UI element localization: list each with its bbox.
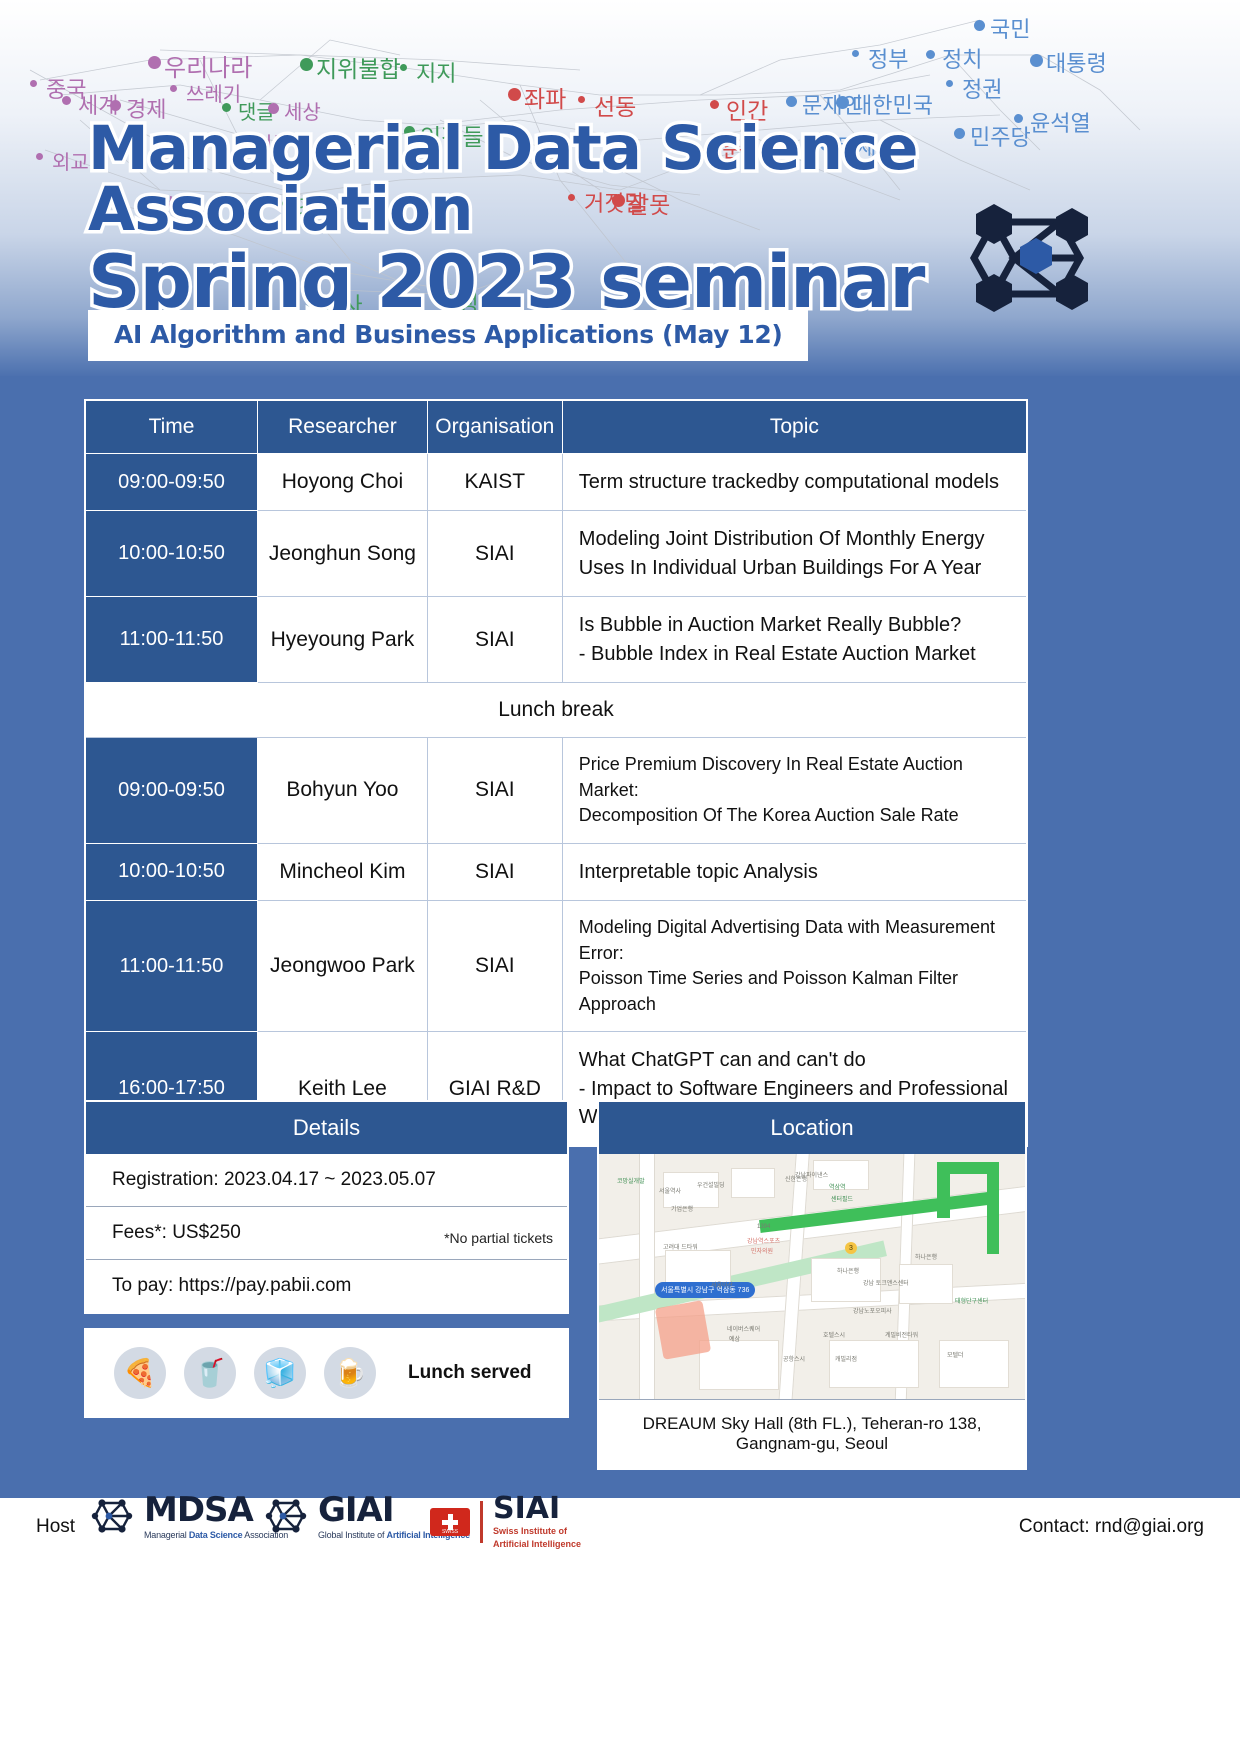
schedule-table: Time Researcher Organisation Topic 09:00…	[84, 399, 1028, 1147]
siai-tagline-line2: Artificial Intelligence	[493, 1539, 581, 1550]
network-word: 국민	[990, 12, 1030, 44]
cell-organisation: SIAI	[427, 597, 562, 683]
topic-line: Interpretable topic Analysis	[579, 858, 1012, 886]
map-label: 계밀비전타워	[885, 1330, 918, 1339]
network-node	[300, 58, 313, 71]
network-node	[30, 80, 37, 87]
cell-topic: Term structure trackedby computational m…	[562, 454, 1027, 511]
topic-line: Is Bubble in Auction Market Really Bubbl…	[579, 611, 1012, 639]
network-node	[1030, 54, 1043, 67]
pizza-slice-icon: 🍕	[114, 1347, 166, 1399]
network-word: 쓰레기	[186, 78, 241, 107]
schedule-lunch-row: Lunch break	[85, 682, 1027, 737]
topic-line: Poisson Time Series and Poisson Kalman F…	[579, 966, 1012, 1017]
hero-subtitle-text: AI Algorithm and Business Applications (…	[114, 320, 782, 349]
map-label: 예삼	[729, 1334, 740, 1343]
cell-researcher: Jeongwoo Park	[258, 900, 428, 1031]
topic-line: Modeling Digital Advertising Data with M…	[579, 915, 1012, 966]
cell-topic: Interpretable topic Analysis	[562, 843, 1027, 900]
network-node	[400, 64, 407, 71]
column-header-time: Time	[85, 400, 258, 454]
detail-text: To pay: https://pay.pabii.com	[112, 1275, 351, 1296]
network-word: 대통령	[1046, 46, 1107, 78]
soda-cup-icon: 🥤	[184, 1347, 236, 1399]
cell-researcher: Hoyong Choi	[258, 454, 428, 511]
logo-mdsa: MDSA Managerial Data Science Association	[88, 1492, 288, 1540]
map-label: 기업은행	[671, 1204, 693, 1213]
details-heading: Details	[86, 1102, 567, 1154]
logo-siai: SWISS SIAI Swiss Institute of Artificial…	[430, 1494, 581, 1551]
map-label: 강남 토크앤스센터	[863, 1278, 909, 1287]
lunch-panel: 🍕 🥤 🧊 🍺 Lunch served	[84, 1328, 569, 1418]
map-label: 하나은행	[915, 1252, 937, 1261]
map-label: 강남역스포츠	[747, 1236, 780, 1245]
siai-wordmark: SIAI	[493, 1494, 581, 1524]
cell-time: 10:00-10:50	[85, 843, 258, 900]
map-label: 우건설빌딩	[697, 1180, 725, 1189]
cell-researcher: Jeonghun Song	[258, 511, 428, 597]
network-node	[578, 96, 585, 103]
network-node	[926, 50, 935, 59]
network-node	[836, 96, 849, 109]
map-label: 신한은행	[785, 1174, 807, 1183]
topic-line: What ChatGPT can and can't do	[579, 1046, 1012, 1074]
schedule-header-row: Time Researcher Organisation Topic	[85, 400, 1027, 454]
map-label: 서울역사	[659, 1186, 681, 1195]
map-label: 네이버스퀘어	[727, 1324, 760, 1333]
giai-tagline-a: Global Institute of	[318, 1530, 387, 1540]
table-row: 09:00-09:50Hoyong ChoiKAISTTerm structur…	[85, 454, 1027, 511]
swiss-flag-caption: SWISS	[442, 1529, 458, 1535]
column-header-organisation: Organisation	[427, 400, 562, 454]
network-node	[222, 103, 231, 112]
siai-divider	[480, 1501, 483, 1543]
cell-time: 11:00-11:50	[85, 597, 258, 683]
mdsa-cube-icon	[88, 1492, 136, 1540]
table-row: 10:00-10:50Jeonghun SongSIAIModeling Joi…	[85, 511, 1027, 597]
column-header-researcher: Researcher	[258, 400, 428, 454]
cell-time: 10:00-10:50	[85, 511, 258, 597]
location-panel: Location 3 서울특별시 강남구 역삼동 736 코망실개발서울역사우건…	[597, 1100, 1027, 1470]
network-word: 좌파	[524, 80, 566, 114]
cold-drink-icon: 🧊	[254, 1347, 306, 1399]
map-label: 강남노포오피사	[853, 1306, 892, 1315]
cell-time: 09:00-09:50	[85, 454, 258, 511]
location-caption: DREAUM Sky Hall (8th FL.), Teheran-ro 13…	[599, 1399, 1025, 1468]
network-node	[710, 100, 719, 109]
table-row: 10:00-10:50Mincheol KimSIAIInterpretable…	[85, 843, 1027, 900]
map-label: 공항스시	[783, 1354, 805, 1363]
table-row: 11:00-11:50Hyeyoung ParkSIAIIs Bubble in…	[85, 597, 1027, 683]
network-node	[62, 96, 71, 105]
topic-line: Term structure trackedby computational m…	[579, 468, 1012, 496]
column-header-topic: Topic	[562, 400, 1027, 454]
location-heading: Location	[599, 1102, 1025, 1154]
lunch-break-label: Lunch break	[85, 682, 1027, 737]
map-label: 역삼역	[829, 1182, 846, 1191]
mdsa-tagline-b: Data Science	[189, 1530, 243, 1540]
hero-subtitle: AI Algorithm and Business Applications (…	[88, 310, 808, 361]
network-node	[974, 20, 985, 31]
cell-organisation: KAIST	[427, 454, 562, 511]
map-label: 센터필드	[831, 1194, 853, 1203]
topic-line: Decomposition Of The Korea Auction Sale …	[579, 803, 1012, 829]
network-node	[946, 80, 953, 87]
topic-line: Price Premium Discovery In Real Estate A…	[579, 752, 1012, 803]
details-panel: Details Registration: 2023.04.17 ~ 2023.…	[84, 1100, 569, 1314]
map-label: 코망실개발	[617, 1176, 645, 1185]
network-node	[508, 88, 521, 101]
lunch-served-label: Lunch served	[408, 1362, 532, 1384]
map-label: 모텔더	[947, 1350, 964, 1359]
map-address-pin: 서울특별시 강남구 역삼동 736	[655, 1282, 755, 1298]
cell-researcher: Hyeyoung Park	[258, 597, 428, 683]
beer-mug-icon: 🍺	[324, 1347, 376, 1399]
network-node	[786, 96, 797, 107]
map-label: 하나은행	[837, 1266, 859, 1275]
network-word: 지위불합	[316, 50, 401, 84]
network-word: 정권	[962, 72, 1002, 104]
map-label: 서울아산	[711, 1280, 733, 1289]
host-label: Host	[36, 1516, 75, 1538]
cell-organisation: SIAI	[427, 843, 562, 900]
map-label: 1394	[757, 1224, 770, 1230]
topic-line: Uses In Individual Urban Buildings For A…	[579, 554, 1012, 582]
cell-organisation: SIAI	[427, 900, 562, 1031]
hero-banner: 중국세계경제우리나라쓰레기댓글세상지위불합지지미국인간들좌파선동인간문재인대한민…	[0, 0, 1240, 378]
cell-organisation: SIAI	[427, 737, 562, 843]
map-route-badge: 3	[845, 1242, 857, 1254]
detail-row: To pay: https://pay.pabii.com	[86, 1260, 567, 1312]
detail-row: Registration: 2023.04.17 ~ 2023.05.07	[86, 1154, 567, 1207]
map-label: 태형단구센터	[955, 1296, 988, 1305]
map-label: 민자의원	[751, 1246, 773, 1255]
location-map[interactable]: 3 서울특별시 강남구 역삼동 736 코망실개발서울역사우건설빌딩기업은행역삼…	[599, 1154, 1025, 1399]
network-node	[852, 50, 859, 57]
cell-topic: Price Premium Discovery In Real Estate A…	[562, 737, 1027, 843]
cell-topic: Is Bubble in Auction Market Really Bubbl…	[562, 597, 1027, 683]
network-node	[110, 100, 121, 111]
swiss-flag-icon: SWISS	[430, 1508, 470, 1536]
cell-time: 11:00-11:50	[85, 900, 258, 1031]
cell-topic: Modeling Joint Distribution Of Monthly E…	[562, 511, 1027, 597]
table-row: 11:00-11:50Jeongwoo ParkSIAIModeling Dig…	[85, 900, 1027, 1031]
detail-note: *No partial tickets	[444, 1230, 553, 1246]
network-node	[170, 85, 177, 92]
network-word: 정치	[942, 42, 982, 74]
network-word: 지지	[416, 56, 456, 88]
cell-organisation: SIAI	[427, 511, 562, 597]
mdsa-tagline-a: Managerial	[144, 1530, 189, 1540]
cell-time: 09:00-09:50	[85, 737, 258, 843]
map-label: 호텔스시	[823, 1330, 845, 1339]
giai-cube-icon	[262, 1492, 310, 1540]
network-word: 정부	[868, 42, 908, 74]
contact-email: Contact: rnd@giai.org	[1019, 1516, 1204, 1538]
detail-text: Registration: 2023.04.17 ~ 2023.05.07	[112, 1169, 436, 1190]
topic-line: - Bubble Index in Real Estate Auction Ma…	[579, 640, 1012, 668]
map-label: 캐빌리점	[835, 1354, 857, 1363]
cell-topic: Modeling Digital Advertising Data with M…	[562, 900, 1027, 1031]
cube-network-logo-icon	[948, 188, 1108, 328]
detail-row: Fees*: US$250*No partial tickets	[86, 1207, 567, 1260]
siai-tagline-line1: Swiss Institute of	[493, 1526, 581, 1537]
cell-researcher: Bohyun Yoo	[258, 737, 428, 843]
table-row: 09:00-09:50Bohyun YooSIAIPrice Premium D…	[85, 737, 1027, 843]
detail-text: Fees*: US$250	[112, 1222, 241, 1243]
map-label: 고려대 드타워	[663, 1242, 698, 1251]
cell-researcher: Mincheol Kim	[258, 843, 428, 900]
topic-line: Modeling Joint Distribution Of Monthly E…	[579, 525, 1012, 553]
